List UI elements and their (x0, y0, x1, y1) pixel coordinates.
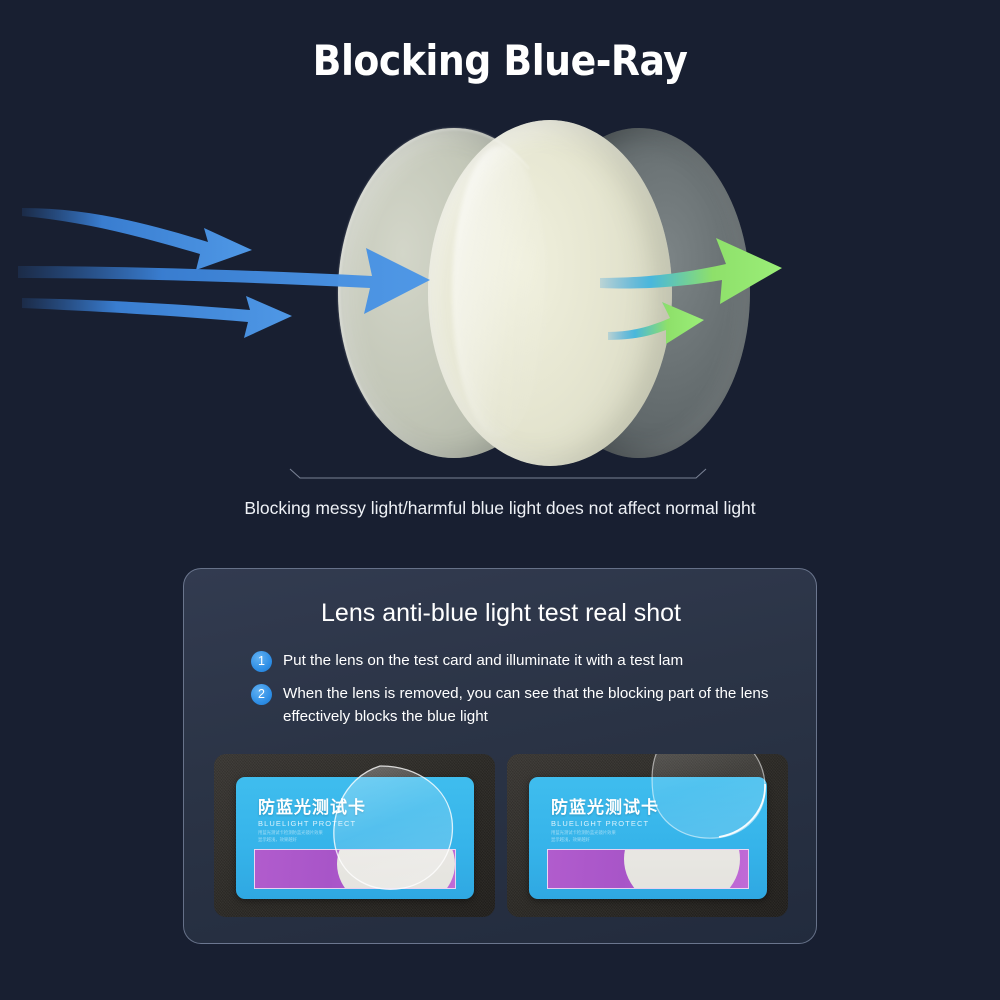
outgoing-green-arrow-2 (608, 302, 704, 344)
card-title-cn-2: 防蓝光测试卡 (551, 793, 659, 818)
blue-test-card-2: 防蓝光测试卡 BLUELIGHT PROTECT 用蓝光测试卡检测防蓝光镜片效果… (529, 777, 767, 899)
card-subtext-1b: 显示越浅，效果越好 (258, 837, 361, 843)
card-title-en-1: BLUELIGHT PROTECT (258, 819, 356, 828)
illustration-caption: Blocking messy light/harmful blue light … (0, 498, 1000, 519)
test-card-photo-2: 防蓝光测试卡 BLUELIGHT PROTECT 用蓝光测试卡检测防蓝光镜片效果… (507, 754, 788, 917)
blocked-region-2 (624, 849, 740, 889)
test-shot-panel: Lens anti-blue light test real shot 1 Pu… (183, 568, 817, 944)
incoming-blue-arrow-3 (22, 296, 292, 338)
step-badge-1: 1 (251, 651, 272, 672)
card-title-en-2: BLUELIGHT PROTECT (551, 819, 649, 828)
card-title-cn-1: 防蓝光测试卡 (258, 793, 366, 818)
arrows-svg (0, 120, 1000, 480)
test-card-photo-1: 防蓝光测试卡 BLUELIGHT PROTECT 用蓝光测试卡检测防蓝光镜片效果… (214, 754, 495, 917)
steps-list: 1 Put the lens on the test card and illu… (251, 649, 771, 738)
card-subtext-2a: 用蓝光测试卡检测防蓝光镜片效果 (551, 830, 654, 836)
panel-heading: Lens anti-blue light test real shot (184, 599, 818, 628)
bracket-svg (288, 468, 708, 482)
step-text-2: When the lens is removed, you can see th… (283, 682, 771, 729)
list-item: 2 When the lens is removed, you can see … (251, 682, 771, 729)
test-card-photos: 防蓝光测试卡 BLUELIGHT PROTECT 用蓝光测试卡检测防蓝光镜片效果… (214, 754, 788, 919)
blocked-region-1 (337, 849, 455, 889)
incoming-blue-arrow-1 (22, 208, 252, 270)
blue-light-strip-2 (547, 849, 749, 889)
outgoing-green-arrow-1 (600, 238, 782, 304)
step-badge-2: 2 (251, 684, 272, 705)
light-ray-arrows (0, 120, 1000, 480)
card-subtext-2b: 显示越浅，效果越好 (551, 837, 654, 843)
step-text-1: Put the lens on the test card and illumi… (283, 649, 683, 673)
measurement-bracket (288, 468, 708, 482)
list-item: 1 Put the lens on the test card and illu… (251, 649, 771, 673)
card-subtext-1a: 用蓝光测试卡检测防蓝光镜片效果 (258, 830, 361, 836)
blue-test-card-1: 防蓝光测试卡 BLUELIGHT PROTECT 用蓝光测试卡检测防蓝光镜片效果… (236, 777, 474, 899)
blue-light-strip-1 (254, 849, 456, 889)
page-title: Blocking Blue-Ray (0, 36, 1000, 85)
